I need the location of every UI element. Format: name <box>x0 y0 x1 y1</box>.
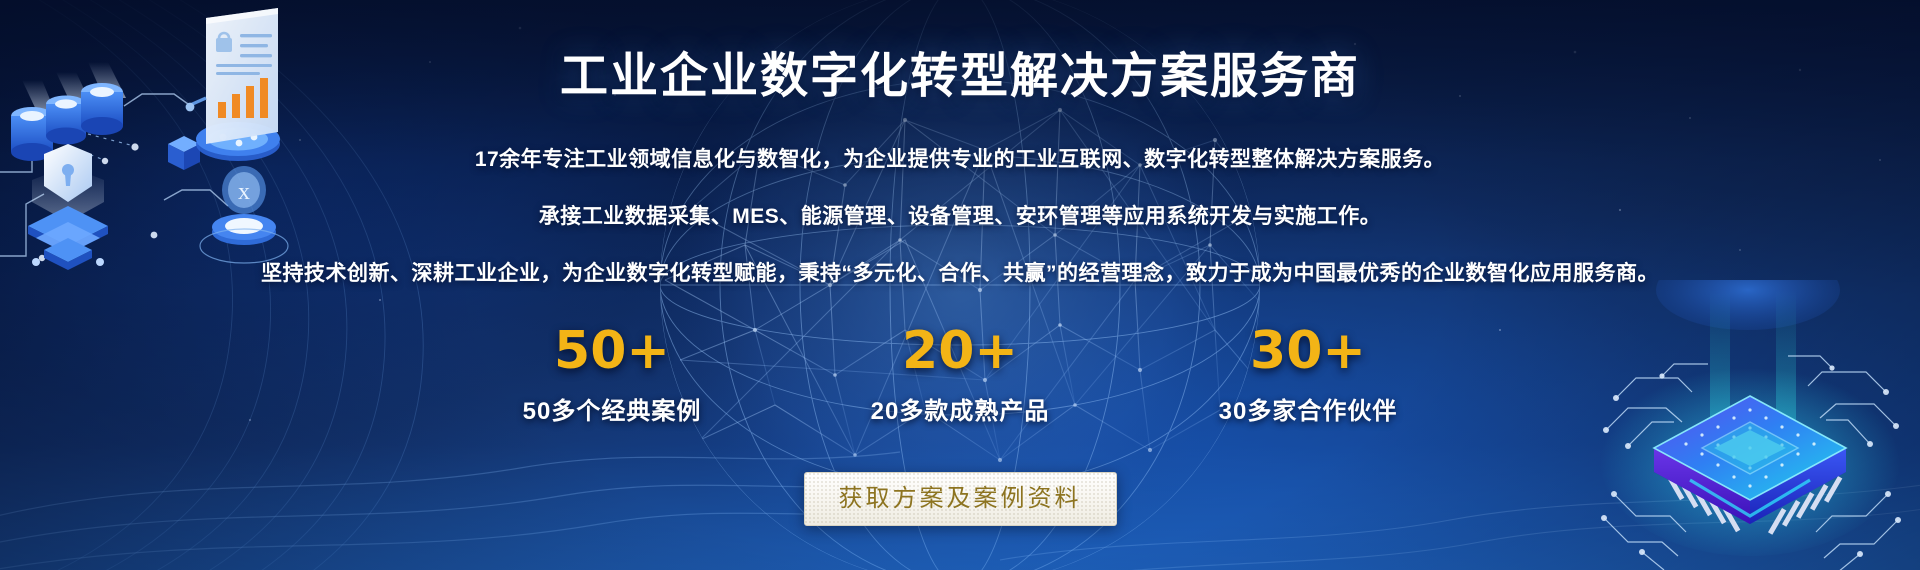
stat-label-products: 20多款成熟产品 <box>840 391 1080 426</box>
cta-row: 获取方案及案例资料 <box>0 472 1920 526</box>
stat-label-partners: 30多家合作伙伴 <box>1188 391 1428 426</box>
stat-item-products: 20+ 20多款成熟产品 <box>840 325 1080 426</box>
stat-label-cases: 50多个经典案例 <box>492 391 732 426</box>
subtitle-line-3: 坚持技术创新、深耕工业企业，为企业数字化转型赋能，秉持“多元化、合作、共赢”的经… <box>0 257 1920 287</box>
subtitle-line-2: 承接工业数据采集、MES、能源管理、设备管理、安环管理等应用系统开发与实施工作。 <box>0 200 1920 230</box>
stat-item-partners: 30+ 30多家合作伙伴 <box>1188 325 1428 426</box>
promo-banner: x <box>0 0 1920 570</box>
stat-number-partners: 30+ <box>1188 325 1428 377</box>
banner-content: 工业企业数字化转型解决方案服务商 17余年专注工业领域信息化与数智化，为企业提供… <box>0 0 1920 570</box>
stat-number-products: 20+ <box>840 325 1080 377</box>
subtitle-line-1: 17余年专注工业领域信息化与数智化，为企业提供专业的工业互联网、数字化转型整体解… <box>0 143 1920 173</box>
get-solution-materials-button[interactable]: 获取方案及案例资料 <box>804 472 1117 526</box>
stats-row: 50+ 50多个经典案例 20+ 20多款成熟产品 30+ 30多家合作伙伴 <box>0 325 1920 426</box>
stat-item-cases: 50+ 50多个经典案例 <box>492 325 732 426</box>
stat-number-cases: 50+ <box>492 325 732 377</box>
page-title: 工业企业数字化转型解决方案服务商 <box>0 36 1920 106</box>
